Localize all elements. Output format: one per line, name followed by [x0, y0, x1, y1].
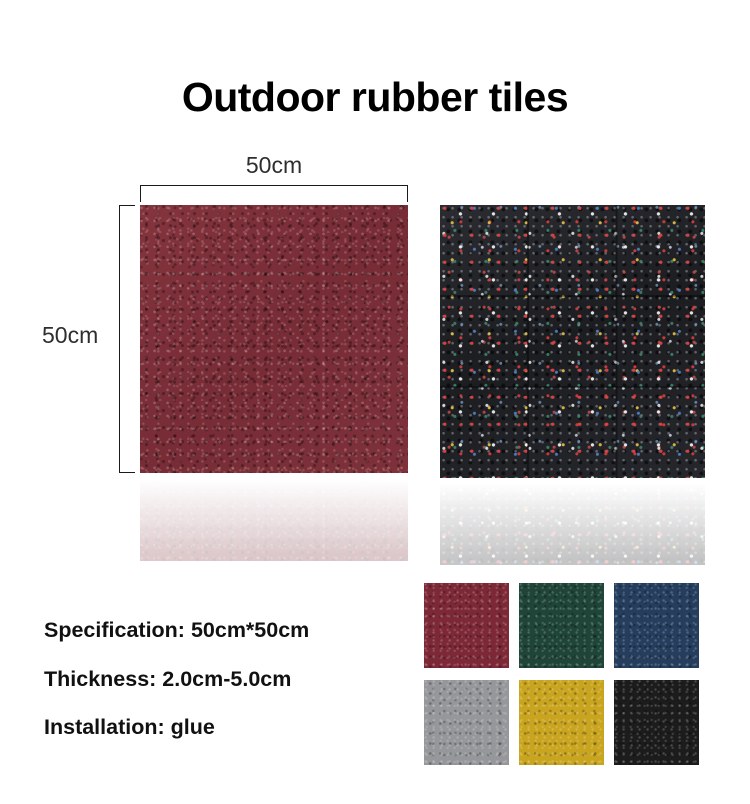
color-swatch-yellow[interactable] — [519, 680, 604, 765]
spec-thickness: Thickness: 2.0cm-5.0cm — [44, 669, 404, 691]
color-swatch-navy-blue[interactable] — [614, 583, 699, 668]
color-swatch-grid — [424, 583, 704, 765]
dimension-bracket-horizontal — [140, 185, 408, 202]
color-swatch-black[interactable] — [614, 680, 699, 765]
reflection-red-tile — [140, 476, 408, 561]
spec-specification: Specification: 50cm*50cm — [44, 620, 404, 642]
page-title: Outdoor rubber tiles — [0, 75, 750, 120]
reflection-black-speckled-tile — [440, 480, 705, 565]
color-swatch-gray[interactable] — [424, 680, 509, 765]
color-swatch-dark-green[interactable] — [519, 583, 604, 668]
tile-seam-grid — [440, 205, 705, 478]
dimension-label-width: 50cm — [140, 152, 408, 179]
specification-list: Specification: 50cm*50cm Thickness: 2.0c… — [44, 620, 404, 739]
color-swatch-maroon[interactable] — [424, 583, 509, 668]
dimension-bracket-vertical — [119, 205, 135, 473]
dimension-label-height: 50cm — [42, 322, 98, 349]
product-tile-black-speckled — [440, 205, 705, 478]
spec-installation: Installation: glue — [44, 717, 404, 739]
product-tile-red — [140, 205, 408, 473]
